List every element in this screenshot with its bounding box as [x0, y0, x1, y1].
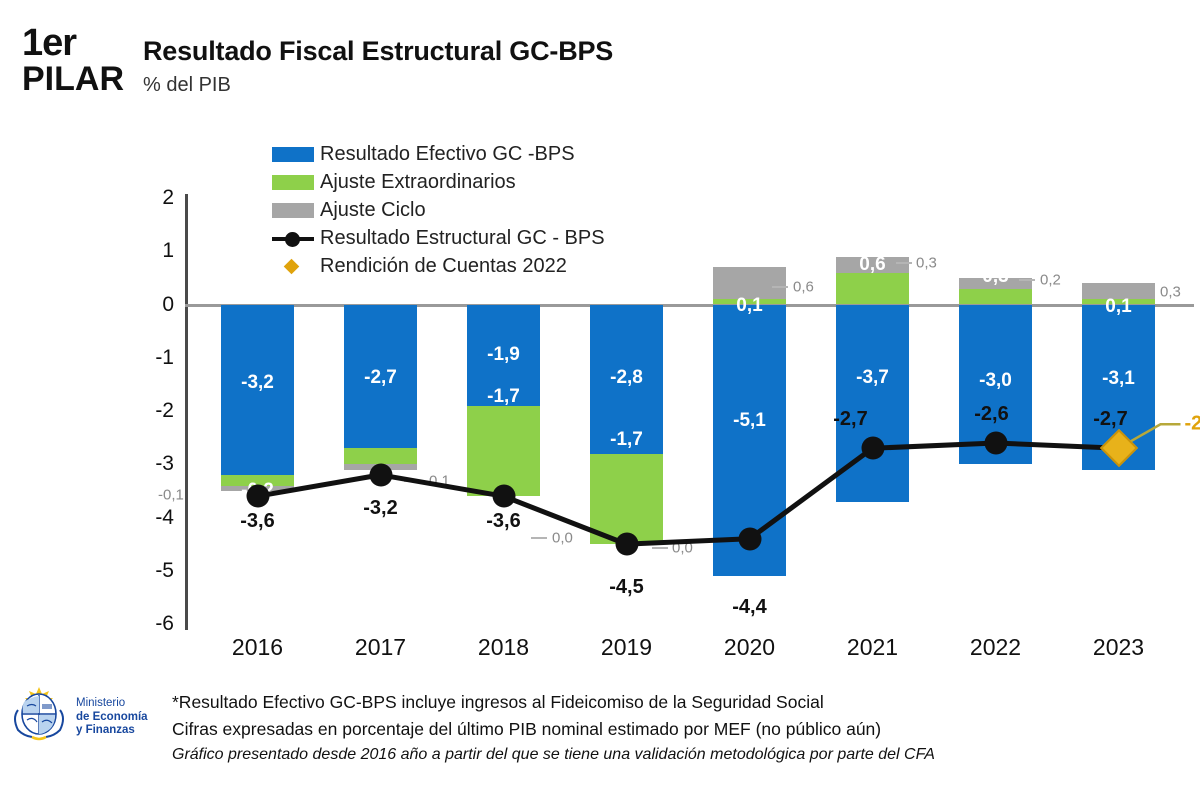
cycle-value-label: 0,2 — [1040, 272, 1061, 289]
cycle-value-label: 0,0 — [552, 530, 573, 547]
label-leader-line — [772, 286, 788, 288]
label-leader-line — [1019, 279, 1035, 281]
line-data-point[interactable] — [246, 485, 269, 508]
x-axis-tick-label: 2022 — [936, 634, 1056, 661]
structural-value-label: -3,2 — [363, 497, 397, 520]
chart-footer: Ministerio de Economía y Finanzas *Resul… — [0, 672, 1200, 786]
x-axis-tick-label: 2021 — [813, 634, 933, 661]
bar-segment[interactable] — [590, 305, 663, 454]
bar-segment[interactable] — [1082, 283, 1155, 299]
structural-value-label: -3,6 — [486, 510, 520, 533]
y-axis-line — [185, 194, 188, 630]
bar-segment[interactable] — [344, 448, 417, 464]
x-axis-tick-label: 2019 — [567, 634, 687, 661]
x-axis-tick-label: 2020 — [690, 634, 810, 661]
cycle-value-label: 0,3 — [1160, 284, 1181, 301]
structural-value-label: -3,6 — [240, 510, 274, 533]
cycle-value-label: 0,6 — [793, 279, 814, 296]
label-leader-line — [404, 480, 420, 482]
x-axis-tick-label: 2016 — [198, 634, 318, 661]
x-axis-tick-label: 2017 — [321, 634, 441, 661]
mef-logo: Ministerio de Economía y Finanzas — [8, 684, 158, 744]
structural-value-label: -2,7 — [1093, 408, 1127, 431]
logo-line-3: y Finanzas — [76, 724, 148, 738]
line-data-point[interactable] — [984, 431, 1007, 454]
zero-baseline — [185, 304, 1194, 307]
label-leader-line — [531, 537, 547, 539]
cycle-value-label: -0,1 — [424, 473, 450, 490]
y-axis-tick-label: -3 — [128, 452, 174, 476]
structural-value-label: -4,4 — [732, 596, 766, 619]
bar-segment[interactable] — [836, 257, 909, 273]
y-axis-tick-label: -5 — [128, 559, 174, 583]
y-axis-tick-label: 0 — [128, 293, 174, 317]
mef-logo-text: Ministerio de Economía y Finanzas — [76, 697, 148, 738]
line-data-point[interactable] — [492, 485, 515, 508]
line-data-point[interactable] — [369, 463, 392, 486]
footnote-1: *Resultado Efectivo GC-BPS incluye ingre… — [172, 692, 824, 713]
y-axis-tick-label: 2 — [128, 186, 174, 210]
cycle-value-label: -0,1 — [158, 487, 184, 504]
bar-segment[interactable] — [590, 454, 663, 545]
label-leader-line — [896, 262, 912, 264]
label-leader-line — [652, 547, 668, 549]
rendicion-cuentas-value-label: -2,7 — [1185, 413, 1200, 436]
bar-segment[interactable] — [836, 273, 909, 305]
uruguay-coat-of-arms-icon — [8, 684, 70, 742]
line-data-point[interactable] — [738, 527, 761, 550]
line-data-point[interactable] — [861, 437, 884, 460]
bar-segment[interactable] — [713, 299, 786, 304]
structural-value-label: -2,7 — [833, 408, 867, 431]
footnote-2: Cifras expresadas en porcentaje del últi… — [172, 719, 881, 740]
line-data-point[interactable] — [615, 533, 638, 556]
chart-plot-area: 210-1-2-3-4-5-6-3,2-2,7-1,9-2,8-5,1-3,7-… — [0, 0, 1200, 786]
x-axis-tick-label: 2023 — [1059, 634, 1179, 661]
bar-segment[interactable] — [467, 305, 540, 406]
logo-line-1: Ministerio — [76, 697, 148, 711]
y-axis-tick-label: -1 — [128, 346, 174, 370]
cycle-value-label: 0,0 — [672, 540, 693, 557]
bar-segment[interactable] — [467, 406, 540, 497]
bar-segment[interactable] — [836, 305, 909, 502]
footnote-3: Gráfico presentado desde 2016 año a part… — [172, 746, 935, 764]
bar-segment[interactable] — [1082, 299, 1155, 304]
y-axis-tick-label: 1 — [128, 239, 174, 263]
logo-line-2: de Economía — [76, 711, 148, 725]
bar-segment[interactable] — [221, 305, 294, 475]
x-axis-tick-label: 2018 — [444, 634, 564, 661]
structural-value-label: -4,5 — [609, 576, 643, 599]
bar-segment[interactable] — [959, 289, 1032, 305]
bar-segment[interactable] — [713, 267, 786, 299]
y-axis-tick-label: -6 — [128, 612, 174, 636]
cycle-value-label: 0,3 — [916, 255, 937, 272]
bar-segment[interactable] — [344, 305, 417, 449]
y-axis-tick-label: -2 — [128, 399, 174, 423]
y-axis-tick-label: -4 — [128, 506, 174, 530]
structural-value-label: -2,6 — [974, 403, 1008, 426]
